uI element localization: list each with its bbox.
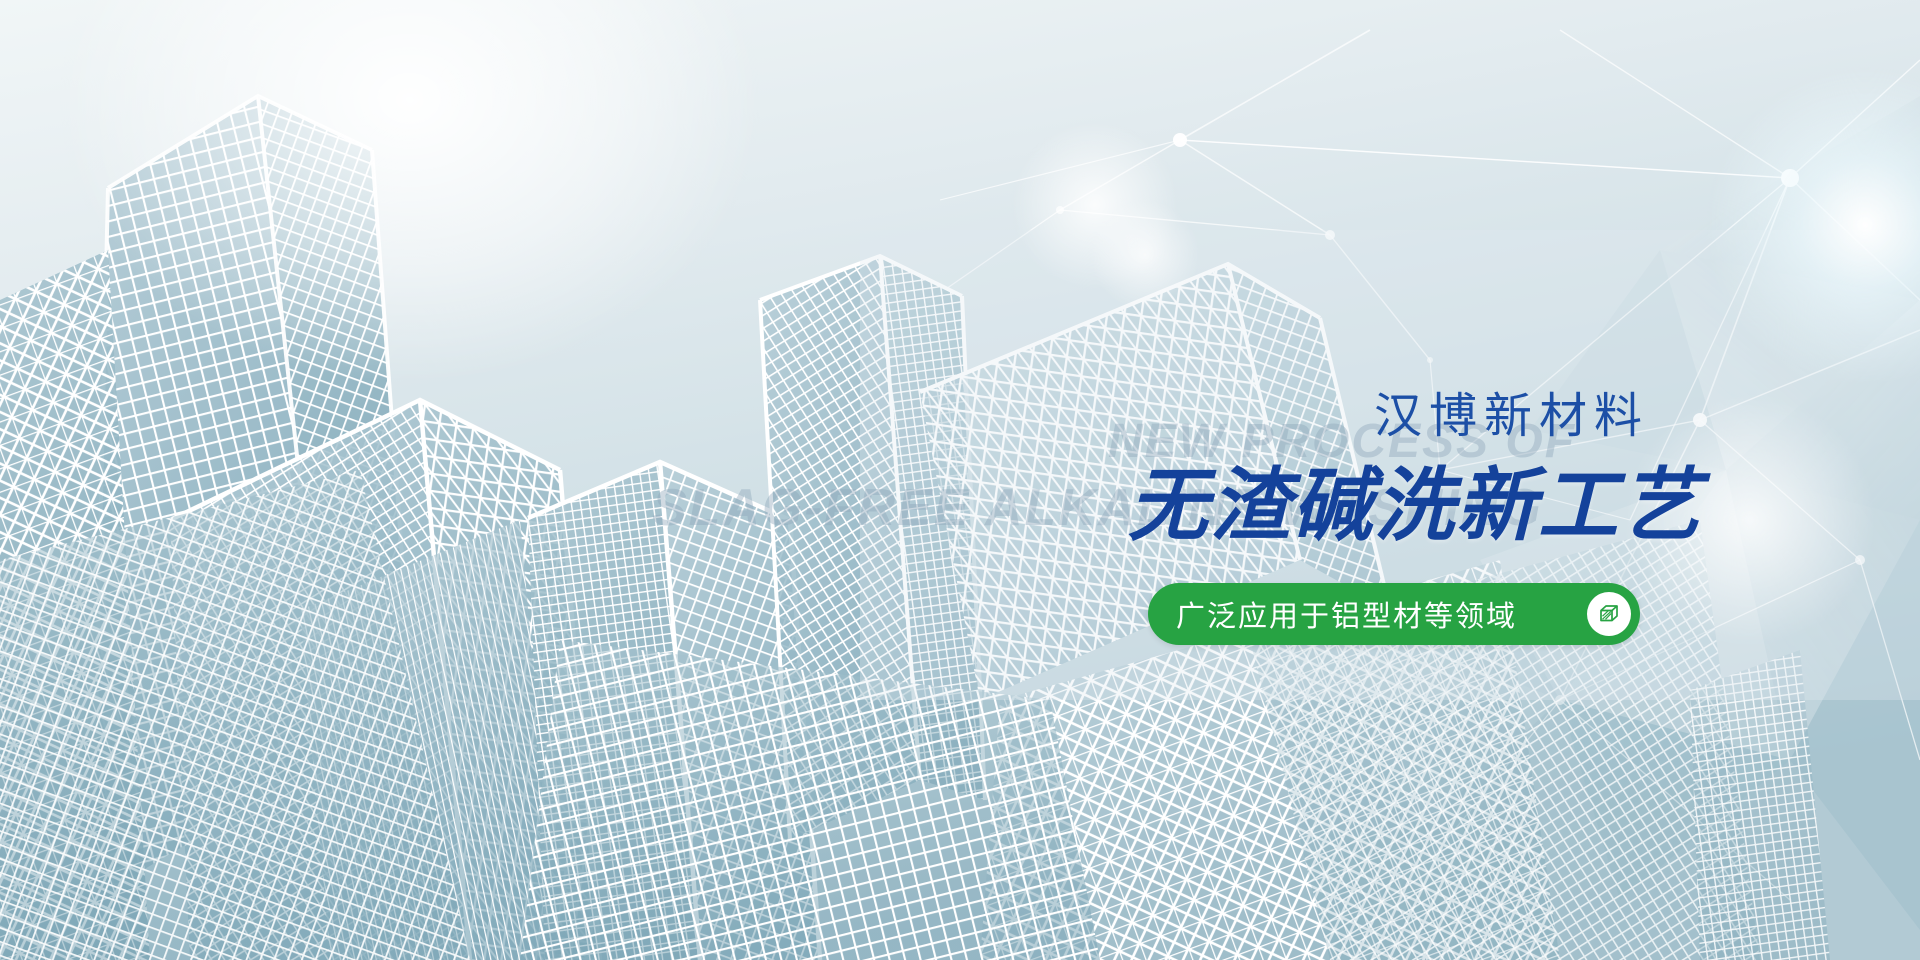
cube-icon [1587, 592, 1631, 636]
brand-name: 汉博新材料 [1374, 392, 1649, 440]
hero-banner: NEW PROCESS OF SLAG-FREE ALKALINE WASHIN… [0, 0, 1920, 960]
banner-copy: NEW PROCESS OF SLAG-FREE ALKALINE WASHIN… [0, 0, 1920, 960]
application-badge-label: 广泛应用于铝型材等领域 [1176, 593, 1517, 635]
page-title: 无渣碱洗新工艺 [1128, 466, 1702, 546]
application-badge[interactable]: 广泛应用于铝型材等领域 [1148, 583, 1640, 645]
